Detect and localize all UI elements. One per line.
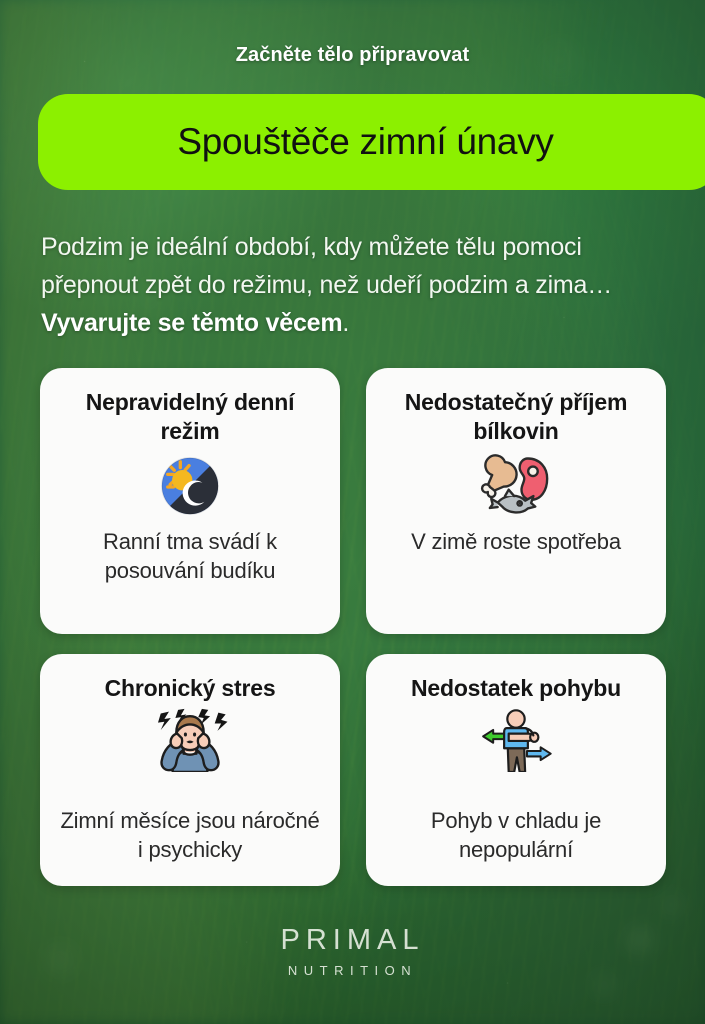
- intro-text-normal: Podzim je ideální období, kdy můžete těl…: [41, 233, 612, 299]
- card-description: Zimní měsíce jsou náročné i psychicky: [56, 806, 324, 864]
- card-irregular-daily-routine[interactable]: Nepravidelný denní režim: [40, 368, 340, 634]
- card-insufficient-protein-intake[interactable]: Nedostatečný příjem bílkovin: [366, 368, 666, 634]
- protein-foods-icon: [477, 453, 555, 519]
- card-description: Ranní tma svádí k posouvání budíku: [56, 527, 324, 585]
- card-description: Pohyb v chladu je nepopulární: [382, 806, 650, 864]
- card-title: Nedostatek pohybu: [411, 674, 621, 703]
- card-title: Nepravidelný denní režim: [56, 388, 324, 446]
- card-lack-of-movement[interactable]: Nedostatek pohybu: [366, 654, 666, 886]
- eyebrow-text: Začněte tělo připravovat: [0, 44, 705, 67]
- cards-grid: Nepravidelný denní režim: [40, 368, 666, 886]
- card-description: V zimě roste spotřeba: [411, 527, 621, 556]
- sun-moon-icon: [159, 453, 221, 519]
- brand-tagline: NUTRITION: [0, 964, 705, 977]
- page-title: Spouštěče zimní únavy: [177, 121, 553, 163]
- intro-paragraph: Podzim je ideální období, kdy můžete těl…: [41, 228, 641, 342]
- intro-text-tail: .: [342, 309, 349, 337]
- brand-name: PRIMAL: [0, 926, 705, 955]
- card-title: Nedostatečný příjem bílkovin: [382, 388, 650, 446]
- card-chronic-stress[interactable]: Chronický stres: [40, 654, 340, 886]
- infographic-poster: Začněte tělo připravovat Spouštěče zimní…: [0, 0, 705, 1024]
- person-stretching-icon: [474, 707, 558, 773]
- poster-content: Začněte tělo připravovat Spouštěče zimní…: [0, 0, 705, 1024]
- intro-text-bold: Vyvarujte se těmto věcem: [41, 309, 342, 337]
- footer-logo: PRIMAL NUTRITION: [0, 926, 705, 977]
- card-title: Chronický stres: [105, 674, 276, 703]
- title-banner: Spouštěče zimní únavy: [38, 94, 705, 190]
- stressed-person-icon: [148, 707, 232, 773]
